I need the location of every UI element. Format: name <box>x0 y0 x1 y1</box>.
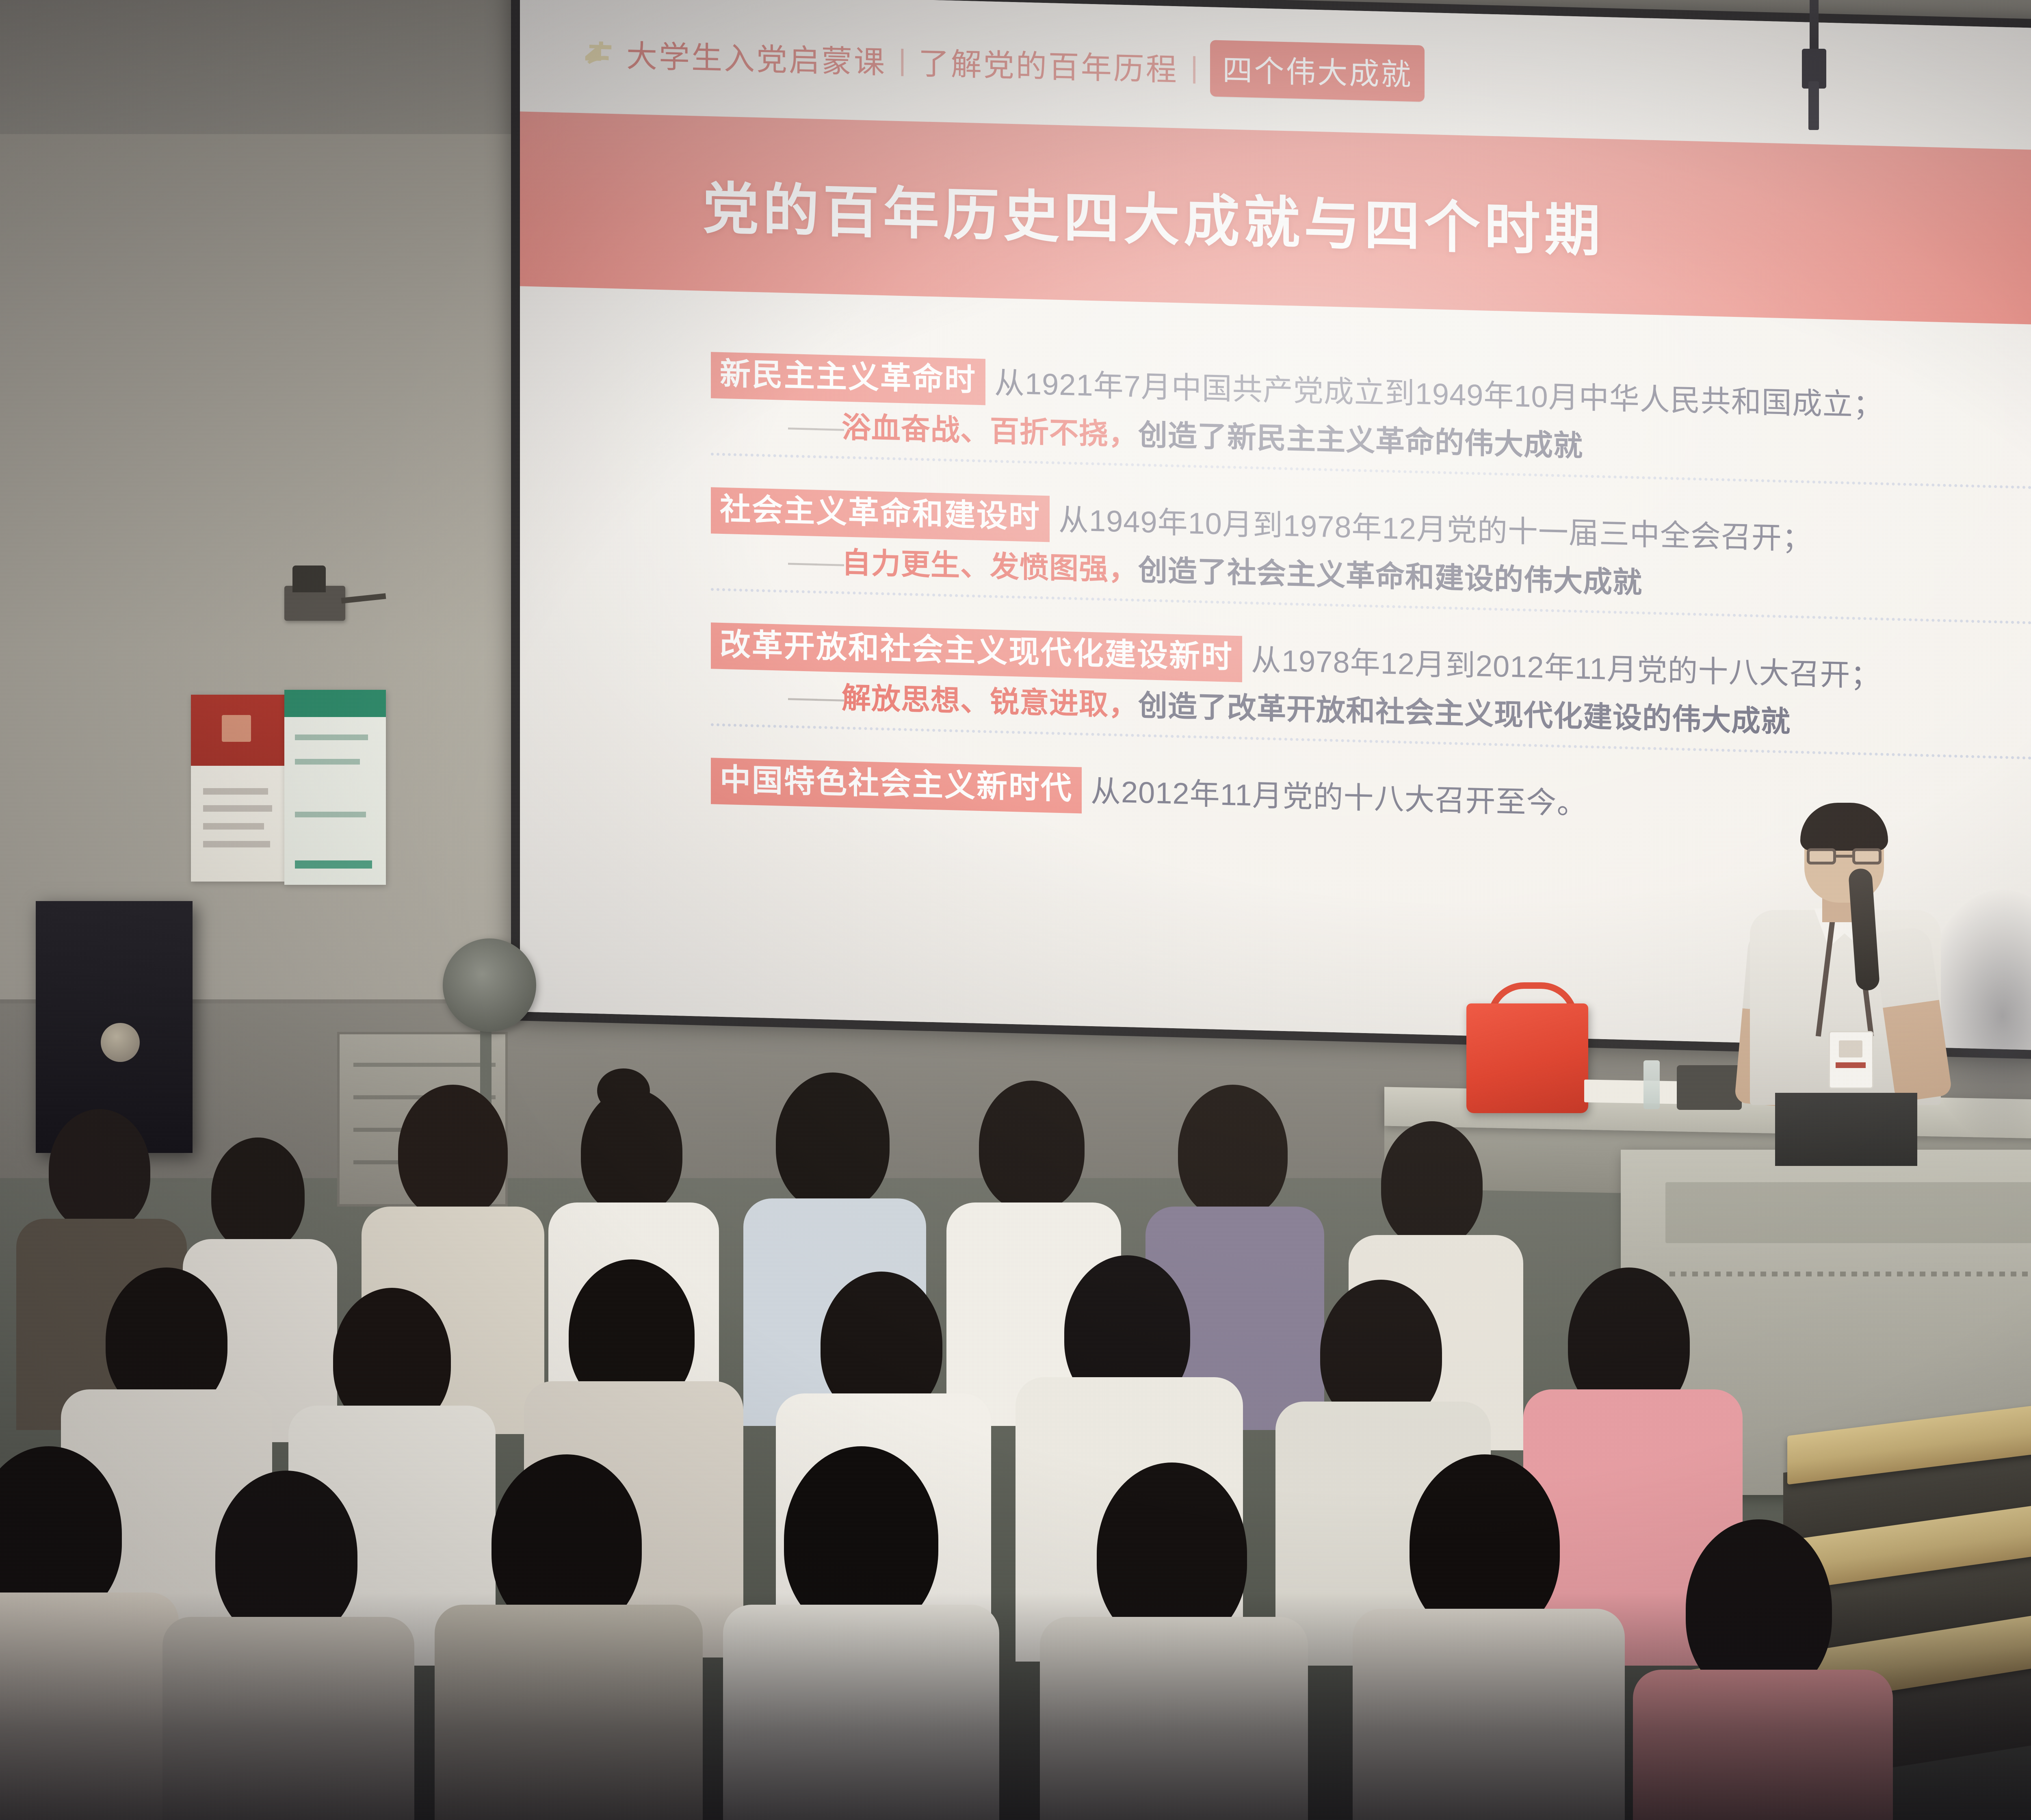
audience-head <box>979 1081 1085 1211</box>
poster-emblem-icon <box>222 715 251 742</box>
red-wall-poster <box>191 695 285 882</box>
slide-title-band: 党的百年历史四大成就与四个时期 <box>520 111 2031 333</box>
pedestal-fan-head <box>443 938 536 1032</box>
audience <box>0 1097 2031 1820</box>
audience-head <box>1381 1121 1483 1247</box>
period-block: 改革开放和社会主义现代化建设新时 从1978年12月到2012年11月党的十八大… <box>711 622 2031 768</box>
green-wall-poster <box>284 690 386 885</box>
audience-head <box>1178 1085 1288 1219</box>
lecture-hall-screenshot: 大学生入党启蒙课 | 了解党的百年历程 | 四个伟大成就 党的百年历史四大成就与… <box>0 0 2031 1820</box>
security-camera-head <box>292 565 326 592</box>
audience-body <box>1040 1617 1308 1820</box>
slide-section-chip: 四个伟大成就 <box>1210 40 1425 102</box>
period-tag: 社会主义革命和建设时 <box>711 487 1050 542</box>
audience-head <box>215 1471 357 1641</box>
audience-head <box>49 1109 150 1231</box>
poster-line <box>295 734 368 740</box>
audience-body <box>1633 1670 1893 1820</box>
audience-body <box>435 1605 703 1820</box>
period-description: 从1949年10月到1978年12月党的十一届三中全会召开； <box>1050 496 1812 554</box>
subline-dash: —— <box>788 410 842 444</box>
audience-body <box>1353 1609 1625 1820</box>
breadcrumb-separator-2: | <box>1189 51 1200 84</box>
subline-dash: —— <box>788 680 842 714</box>
subline-red: 浴血奋战、百折不挠， <box>842 411 1138 451</box>
period-block: 社会主义革命和建设时 从1949年10月到1978年12月党的十一届三中全会召开… <box>711 487 2031 633</box>
subline-dash: —— <box>788 545 842 579</box>
audience-head <box>211 1137 305 1251</box>
breadcrumb-item-course: 大学生入党启蒙课 <box>626 31 886 82</box>
subline-dark: 创造了改革开放和社会主义现代化建设的伟大成就 <box>1138 689 1791 739</box>
poster-line <box>295 759 360 765</box>
period-tag: 中国特色社会主义新时代 <box>711 758 1082 813</box>
subline-red: 解放思想、锐意进取， <box>842 682 1138 721</box>
period-description: 从1978年12月到2012年11月党的十八大召开； <box>1242 636 1881 691</box>
eyeglasses-icon <box>1807 848 1882 864</box>
presenter-hair <box>1800 803 1888 851</box>
poster-line <box>203 805 272 812</box>
audience-body <box>162 1617 414 1820</box>
audience-body <box>0 1592 179 1820</box>
breadcrumb-separator: | <box>897 43 908 77</box>
audience-hair-bun <box>597 1068 650 1113</box>
subline-red: 自力更生、发愤图强， <box>842 546 1138 586</box>
poster-line <box>203 823 264 830</box>
ccp-party-emblem-icon <box>581 36 616 69</box>
audience-body <box>723 1605 999 1820</box>
audience-head <box>776 1072 890 1211</box>
period-description: 从2012年11月党的十八大召开至今。 <box>1082 767 1587 819</box>
speaker-cone-icon <box>101 1023 140 1062</box>
poster-line <box>203 788 268 795</box>
presenter-id-badge <box>1829 1031 1873 1089</box>
period-description: 从1921年7月中国共产党成立到1949年10月中华人民共和国成立； <box>985 359 1884 420</box>
poster-line <box>295 860 372 869</box>
subline-dark: 创造了新民主主义革命的伟大成就 <box>1138 419 1583 463</box>
period-block: 新民主主义革命时 从1921年7月中国共产党成立到1949年10月中华人民共和国… <box>711 352 2031 497</box>
poster-line <box>295 812 366 817</box>
period-tag: 新民主主义革命时 <box>711 352 985 405</box>
poster-line <box>203 841 270 847</box>
period-tag: 改革开放和社会主义现代化建设新时 <box>711 622 1242 682</box>
audience-head <box>398 1085 508 1219</box>
ceiling-mount-tail <box>1808 81 1819 130</box>
breadcrumb-item-history: 了解党的百年历程 <box>918 38 1178 89</box>
subline-dark: 创造了社会主义革命和建设的伟大成就 <box>1138 554 1642 599</box>
slide-title: 党的百年历史四大成就与四个时期 <box>703 163 1604 267</box>
